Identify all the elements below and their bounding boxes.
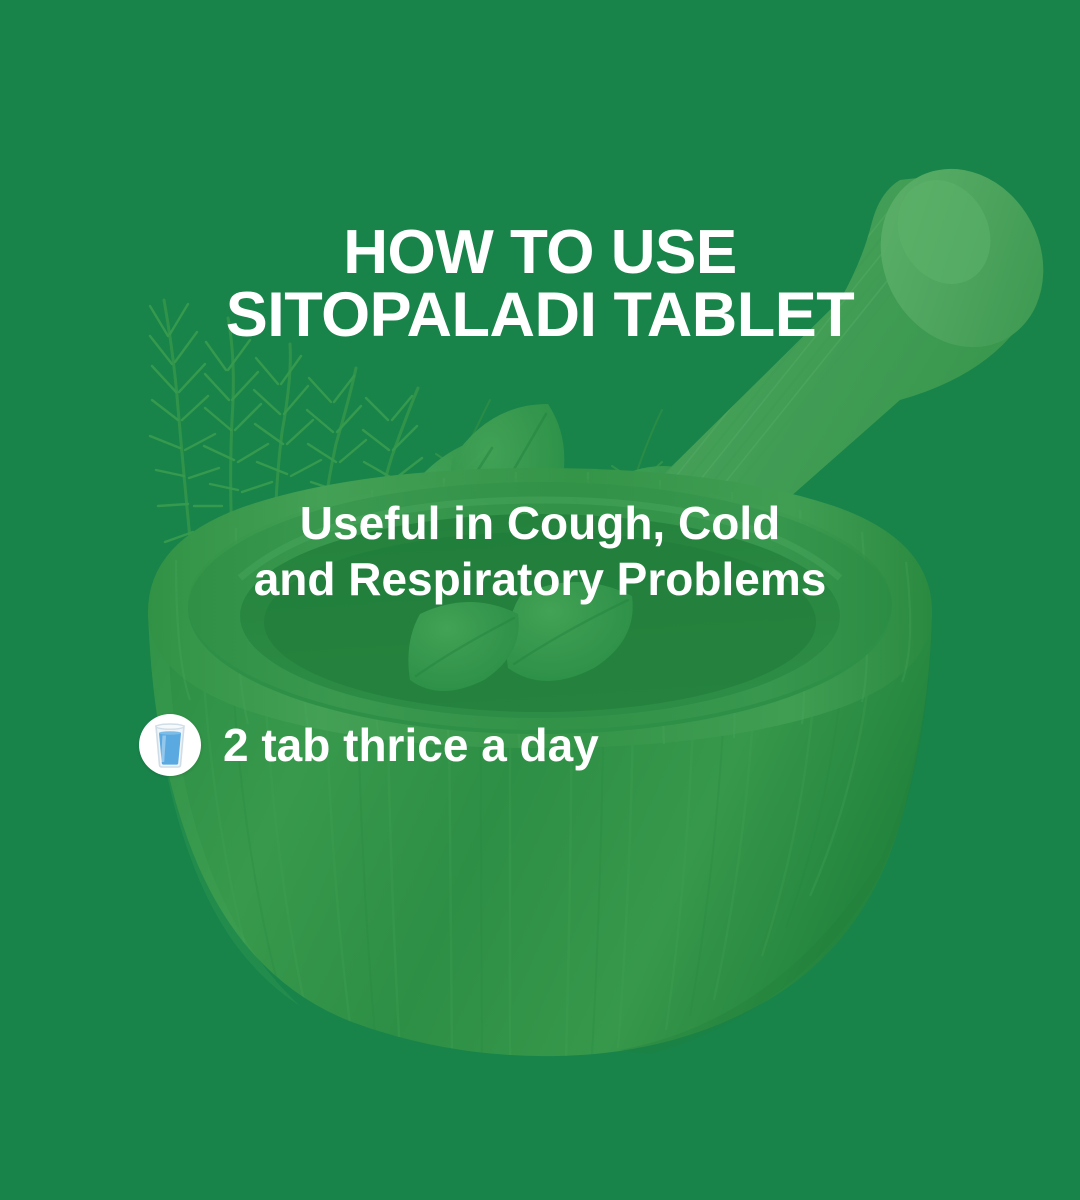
subtitle-line-1: Useful in Cough, Cold bbox=[0, 495, 1080, 551]
title-line-2: SITOPALADI TABLET bbox=[0, 284, 1080, 346]
dosage-instruction: 2 tab thrice a day bbox=[139, 714, 599, 776]
dosage-text: 2 tab thrice a day bbox=[223, 719, 599, 771]
subtitle-line-2: and Respiratory Problems bbox=[0, 551, 1080, 607]
page-title: HOW TO USE SITOPALADI TABLET bbox=[0, 222, 1080, 346]
title-line-1: HOW TO USE bbox=[0, 222, 1080, 284]
water-glass-icon bbox=[139, 714, 201, 776]
poster-canvas: HOW TO USE SITOPALADI TABLET Useful in C… bbox=[0, 0, 1080, 1200]
subtitle: Useful in Cough, Cold and Respiratory Pr… bbox=[0, 495, 1080, 607]
content-layer: HOW TO USE SITOPALADI TABLET Useful in C… bbox=[0, 0, 1080, 1200]
